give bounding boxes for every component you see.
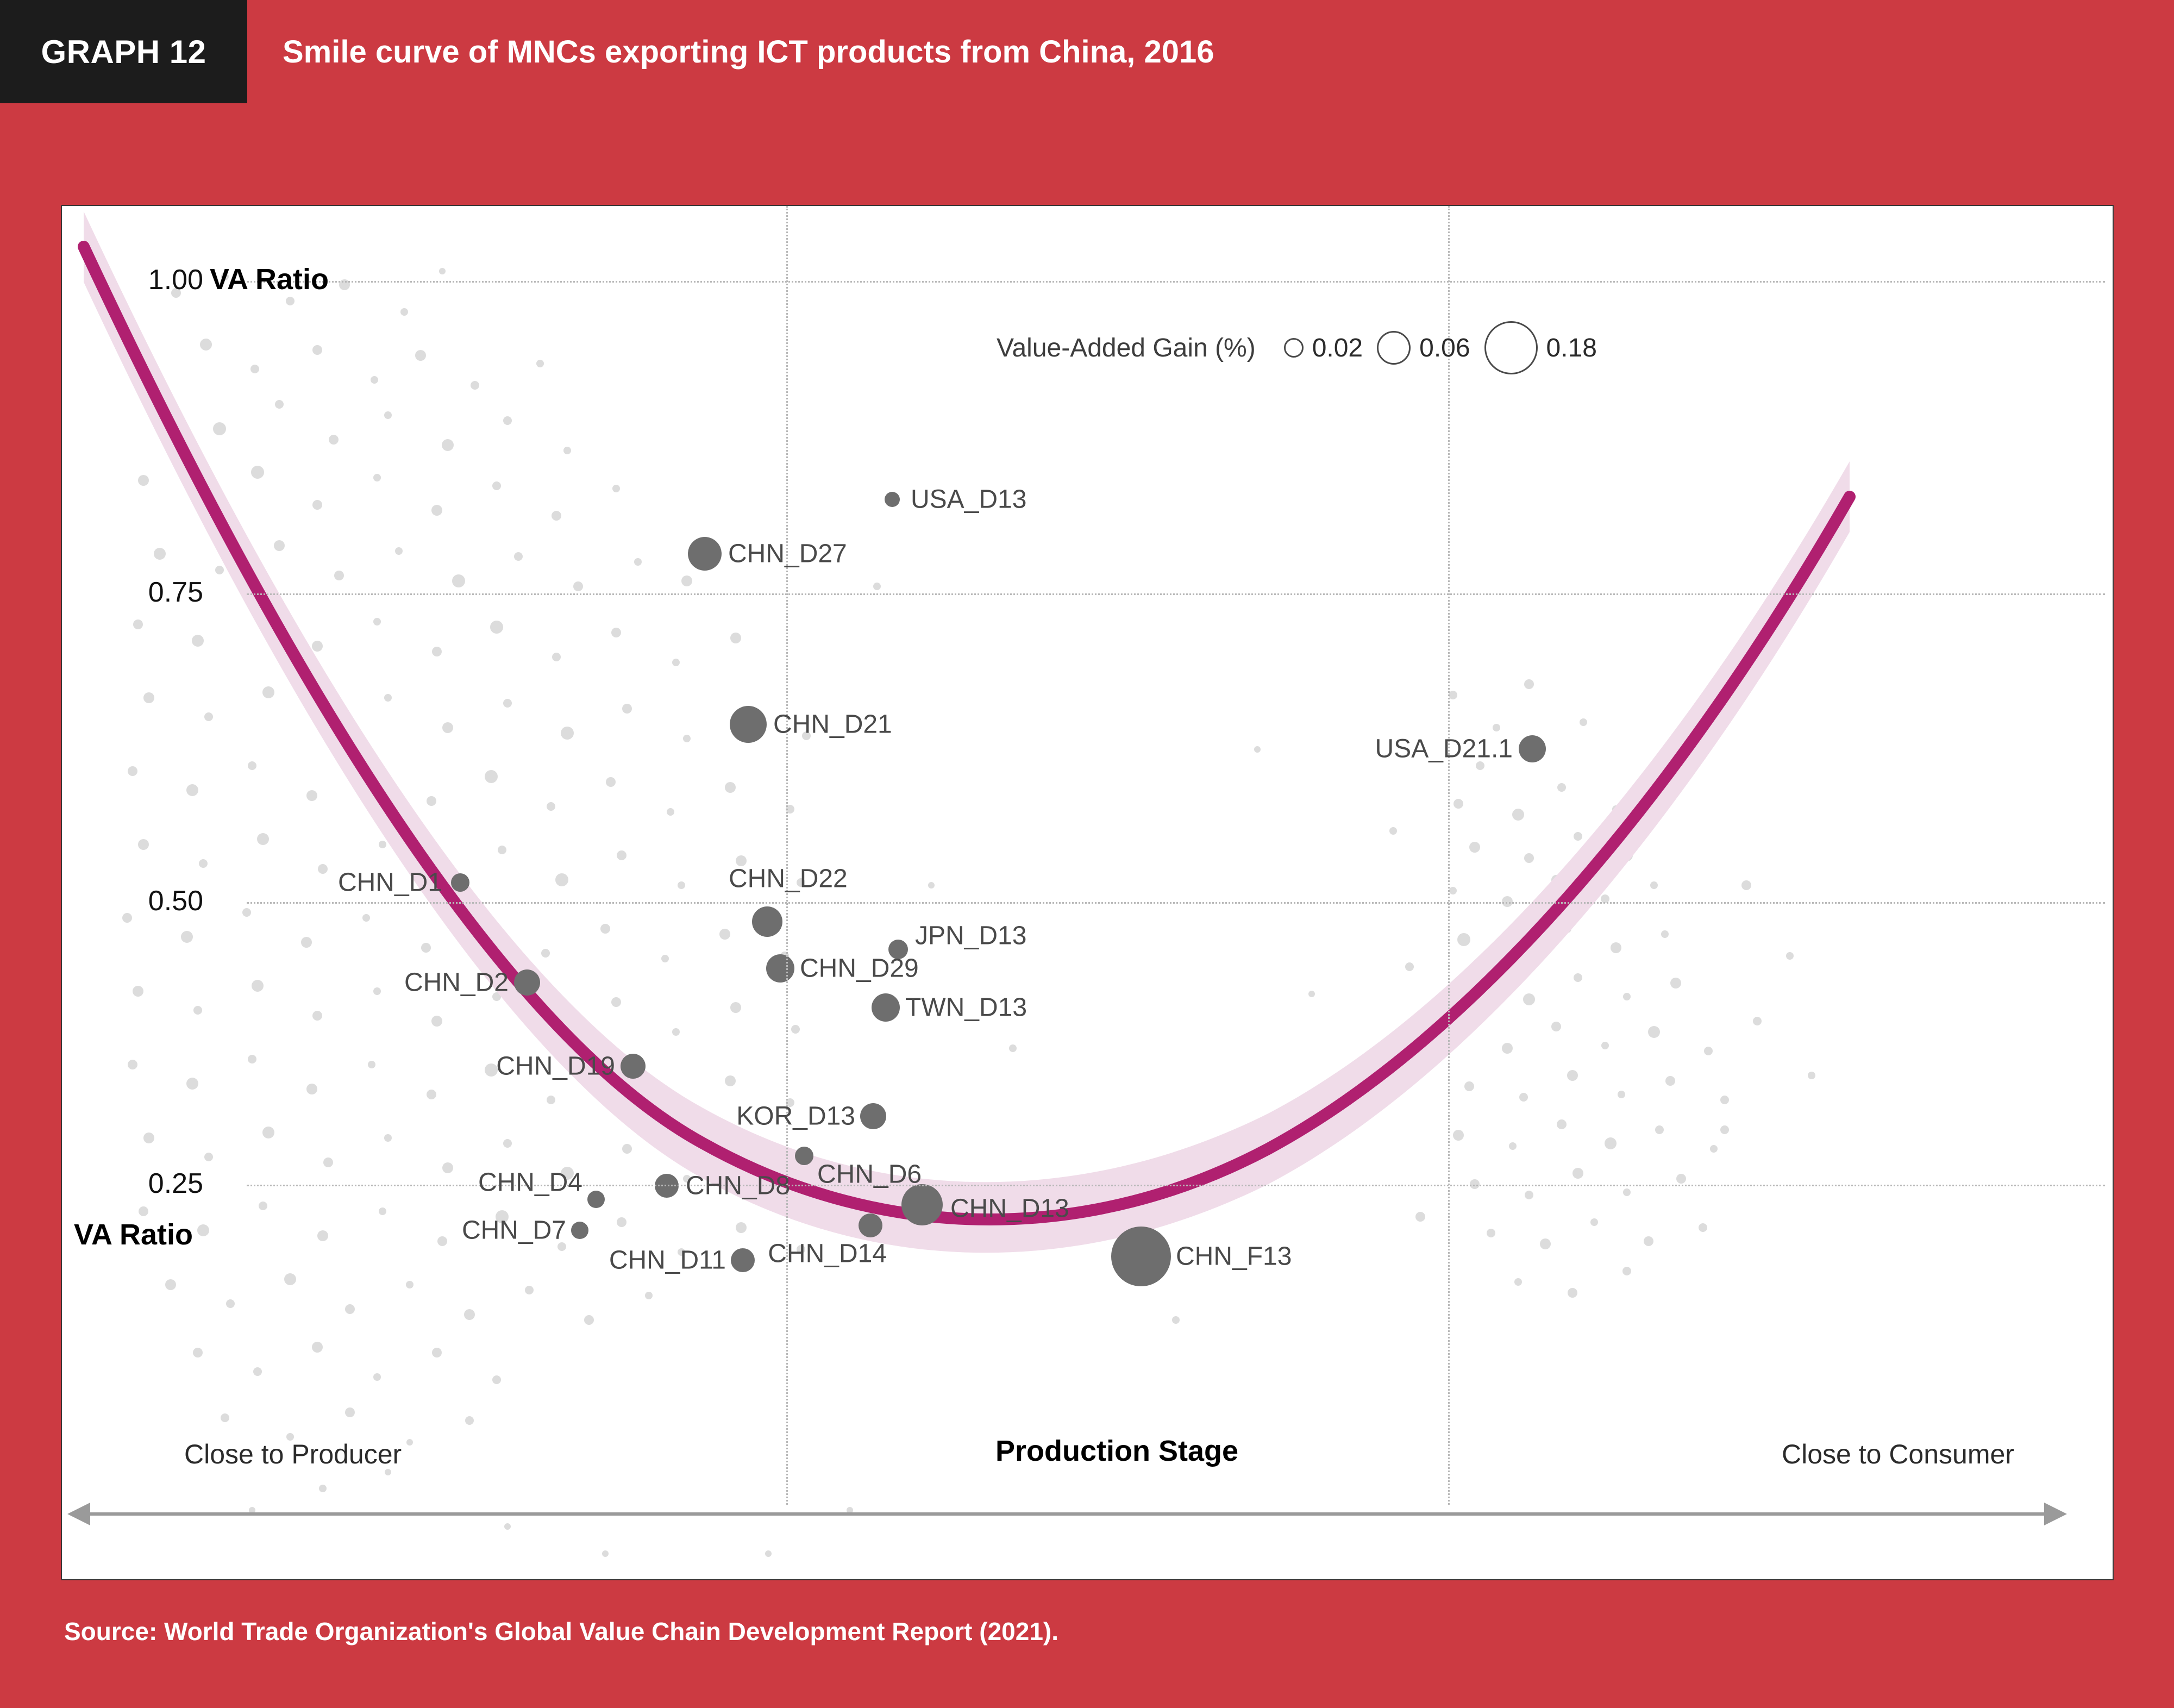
point-TWN_D13 [872,993,900,1022]
label-CHN_D21: CHN_D21 [773,710,892,740]
label-USA_D21.1: USA_D21.1 [1375,734,1513,764]
graph-number-label: GRAPH 12 [41,33,206,71]
label-CHN_D7: CHN_D7 [462,1216,566,1246]
label-TWN_D13: TWN_D13 [905,993,1027,1023]
label-JPN_D13: JPN_D13 [915,921,1026,951]
label-CHN_D27: CHN_D27 [728,539,847,569]
point-CHN_D6 [795,1147,813,1165]
size-legend: Value-Added Gain (%) 0.02 0.06 0.18 [997,321,1597,374]
label-CHN_D11: CHN_D11 [609,1246,726,1275]
legend-item-0: 0.02 [1284,333,1363,363]
page-header: GRAPH 12 Smile curve of MNCs exporting I… [0,0,2174,107]
ytick-0.75: 0.75 [40,576,203,609]
label-CHN_D29: CHN_D29 [800,954,919,984]
point-CHN_D2 [514,969,540,996]
point-CHN_D1 [451,873,469,892]
gridline-0.75 [247,593,2105,595]
x-axis-arrow [62,1495,2113,1560]
point-CHN_D22 [752,906,782,937]
ytick-1.00: 1.00 [40,264,203,296]
point-CHN_D11 [731,1248,755,1272]
source-note: Source: World Trade Organization's Globa… [64,1617,1058,1646]
point-CHN_D7 [571,1222,588,1239]
page-title: Smile curve of MNCs exporting ICT produc… [283,0,1214,103]
legend-value-1: 0.06 [1419,333,1470,363]
legend-bubble-small [1284,338,1304,358]
ytick-0.25: 0.25 [40,1167,203,1200]
point-CHN_D13 [901,1184,943,1225]
labeled-points-group [451,492,1546,1286]
label-KOR_D13: KOR_D13 [736,1102,855,1131]
chart-panel: 1.00 0.75 0.50 0.25 VA Ratio VA Ratio Va… [61,205,2114,1580]
legend-title: Value-Added Gain (%) [997,333,1256,363]
x-axis-center-label: Production Stage [995,1434,1238,1468]
point-CHN_F13 [1111,1227,1171,1286]
point-CHN_D19 [621,1054,646,1079]
gridline-vertical-1 [786,206,788,1505]
label-CHN_D2: CHN_D2 [404,968,509,998]
graph-number-badge: GRAPH 12 [0,0,247,103]
x-axis-left-label: Close to Producer [184,1438,402,1470]
y-axis-title-top: VA Ratio [210,262,329,296]
point-CHN_D4 [587,1191,605,1208]
point-CHN_D27 [688,537,722,571]
y-axis-title-bottom: VA Ratio [74,1218,193,1252]
legend-value-0: 0.02 [1312,333,1363,363]
legend-item-2: 0.18 [1484,321,1597,374]
label-USA_D13: USA_D13 [911,485,1026,515]
point-CHN_D29 [766,954,794,983]
label-CHN_D6: CHN_D6 [817,1160,922,1190]
x-axis-right-label: Close to Consumer [1782,1438,2014,1470]
legend-bubble-large [1484,321,1538,374]
legend-item-1: 0.06 [1377,331,1470,365]
label-CHN_D4: CHN_D4 [478,1168,582,1198]
legend-value-2: 0.18 [1546,333,1597,363]
point-USA_D13 [885,492,900,507]
point-USA_D21.1 [1519,735,1546,762]
point-KOR_D13 [860,1103,886,1129]
point-CHN_D21 [730,706,767,743]
label-CHN_D22: CHN_D22 [729,864,848,894]
label-CHN_D13: CHN_D13 [950,1194,1069,1224]
gridline-0.50 [247,902,2105,904]
point-CHN_D14 [859,1213,882,1237]
gridline-vertical-2 [1448,206,1450,1505]
label-CHN_D19: CHN_D19 [496,1052,615,1081]
ytick-0.50: 0.50 [40,885,203,917]
label-CHN_D8: CHN_D8 [686,1171,790,1201]
label-CHN_F13: CHN_F13 [1176,1242,1292,1272]
label-CHN_D14: CHN_D14 [768,1239,887,1269]
label-CHN_D1: CHN_D1 [338,868,442,898]
gridline-1.00 [247,281,2105,283]
legend-bubble-medium [1377,331,1411,365]
